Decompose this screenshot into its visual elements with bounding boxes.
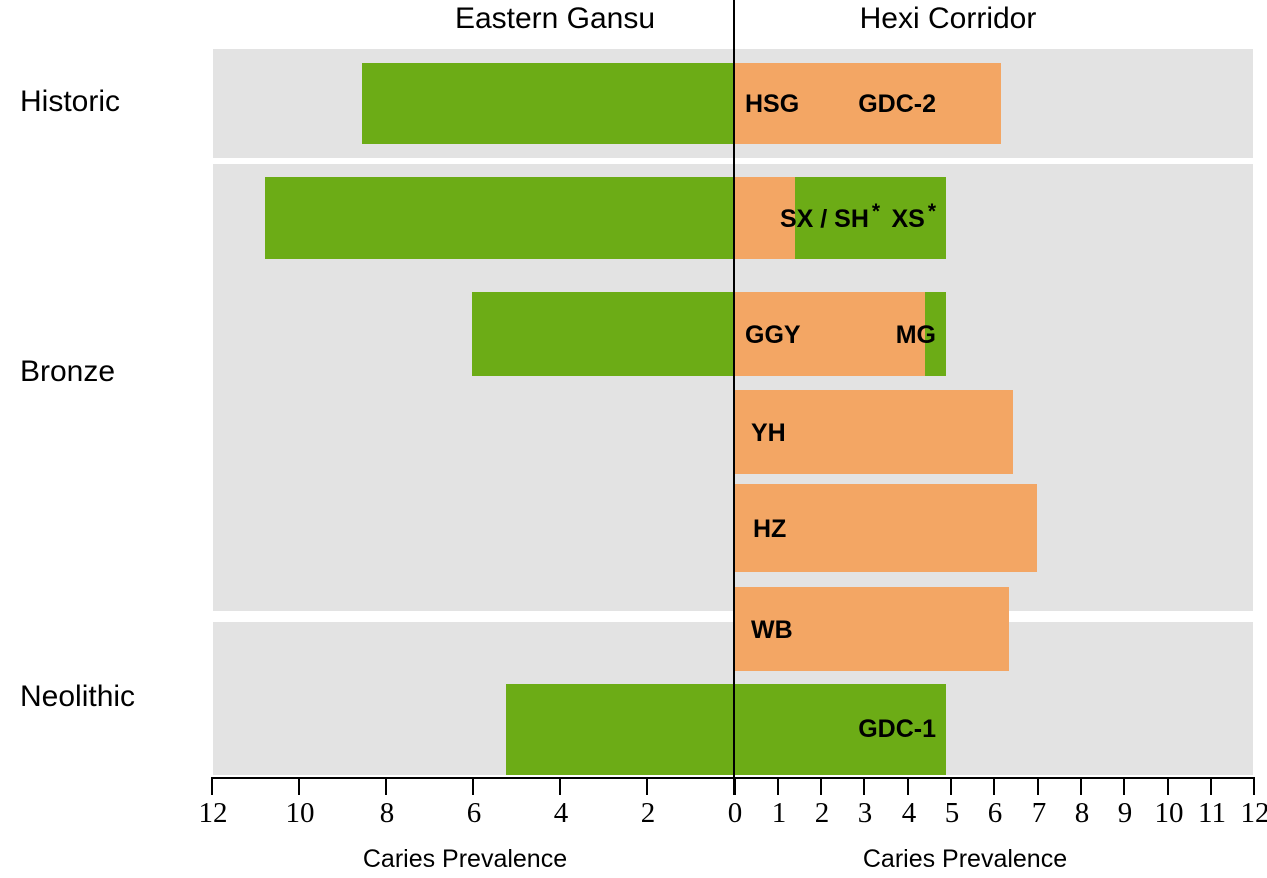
tick-label-zero: 0 <box>713 797 757 830</box>
tick-label-right-11: 11 <box>1190 797 1234 830</box>
tick-right-12 <box>1253 777 1255 795</box>
tick-label-right-12: 12 <box>1233 797 1267 830</box>
tick-right-10 <box>1167 777 1169 795</box>
tick-left-2 <box>646 777 648 795</box>
tick-label-right-2: 2 <box>800 797 844 830</box>
tick-label-left-10: 10 <box>278 797 322 830</box>
tick-label-left-4: 4 <box>539 797 583 830</box>
tick-label-left-8: 8 <box>365 797 409 830</box>
bar-label-hsg: HSG <box>745 90 985 119</box>
tick-label-left-2: 2 <box>626 797 670 830</box>
tick-label-left-6: 6 <box>452 797 496 830</box>
bar-label-ggy: GGY <box>745 321 985 350</box>
tick-left-10 <box>298 777 300 795</box>
tick-label-right-5: 5 <box>930 797 974 830</box>
tick-label-right-9: 9 <box>1103 797 1147 830</box>
period-label-neolithic: Neolithic <box>20 680 205 714</box>
period-label-bronze: Bronze <box>20 355 205 389</box>
tick-right-6 <box>993 777 995 795</box>
tick-right-7 <box>1037 777 1039 795</box>
tick-left-6 <box>472 777 474 795</box>
zero-axis-line <box>733 0 735 780</box>
bar-label-hz: HZ <box>753 515 993 544</box>
bar-label-yh: YH <box>751 419 991 448</box>
tick-label-right-8: 8 <box>1060 797 1104 830</box>
tick-label-right-7: 7 <box>1017 797 1061 830</box>
tick-right-1 <box>777 777 779 795</box>
tick-right-4 <box>907 777 909 795</box>
tick-right-3 <box>863 777 865 795</box>
tick-label-right-4: 4 <box>887 797 931 830</box>
region-header-eastern-gansu: Eastern Gansu <box>380 0 730 38</box>
tick-right-5 <box>950 777 952 795</box>
bar-label-gdc1: GDC-1 <box>646 715 936 744</box>
region-header-hexi-corridor: Hexi Corridor <box>738 0 1158 38</box>
tick-label-right-3: 3 <box>843 797 887 830</box>
axis-title-left: Caries Prevalence <box>290 843 640 875</box>
tick-left-8 <box>385 777 387 795</box>
axis-title-right: Caries Prevalence <box>790 843 1140 875</box>
asterisk-marker-sxsh: * <box>869 200 880 223</box>
tick-right-9 <box>1123 777 1125 795</box>
bar-label-sxsh-text: SX / SH <box>780 205 869 233</box>
tick-right-2 <box>820 777 822 795</box>
tick-label-right-6: 6 <box>973 797 1017 830</box>
caries-prevalence-chart: Eastern Gansu Hexi Corridor Historic Bro… <box>0 0 1267 878</box>
tick-left-4 <box>559 777 561 795</box>
tick-right-8 <box>1080 777 1082 795</box>
tick-right-11 <box>1210 777 1212 795</box>
tick-label-right-10: 10 <box>1147 797 1191 830</box>
tick-label-left-12: 12 <box>191 797 235 830</box>
tick-label-right-1: 1 <box>757 797 801 830</box>
tick-left-12 <box>211 777 213 795</box>
period-label-historic: Historic <box>20 85 205 119</box>
bar-label-sxsh: SX / SH* <box>780 205 1100 234</box>
bar-label-wb: WB <box>751 616 991 645</box>
